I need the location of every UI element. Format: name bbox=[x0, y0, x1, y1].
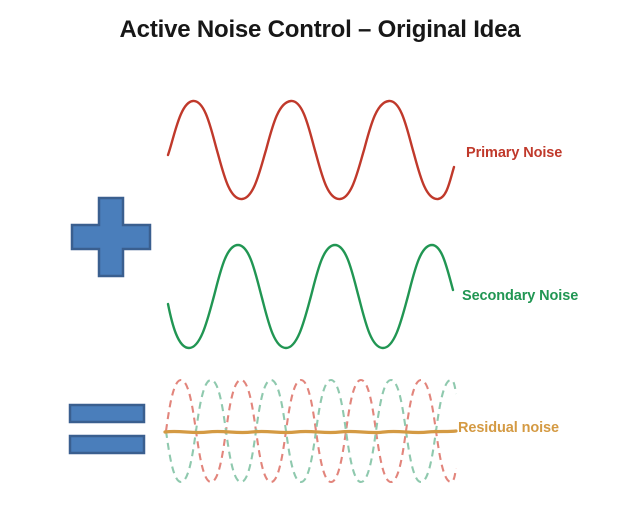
residual-noise-panel bbox=[160, 372, 460, 490]
equals-sign-icon bbox=[66, 402, 152, 458]
primary-noise-label: Primary Noise bbox=[466, 145, 562, 161]
page-title: Active Noise Control – Original Idea bbox=[0, 16, 640, 44]
secondary-wave-path bbox=[168, 245, 453, 348]
residual-sum-path bbox=[165, 431, 456, 433]
secondary-noise-label: Secondary Noise bbox=[462, 288, 578, 304]
primary-wave-path bbox=[168, 101, 454, 199]
secondary-noise-wave bbox=[160, 232, 460, 358]
primary-noise-wave bbox=[160, 88, 460, 210]
slide-canvas: Active Noise Control – Original Idea bbox=[0, 0, 640, 508]
plus-sign-icon bbox=[68, 194, 154, 280]
residual-noise-label: Residual noise bbox=[458, 420, 559, 436]
